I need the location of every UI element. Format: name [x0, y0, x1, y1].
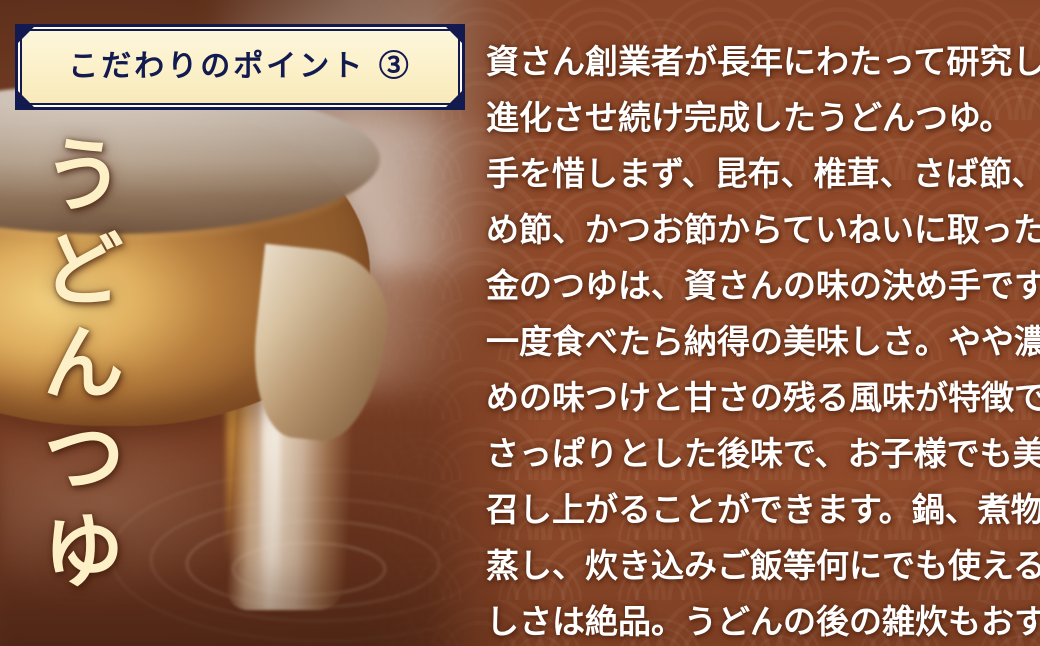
description-line: 召し上がることができます。鍋、煮物、茶碗 — [486, 482, 1026, 538]
vertical-product-title: うどんつゆ — [28, 132, 120, 602]
description-line: 蒸し、炊き込みご飯等何にでも使える美味 — [486, 538, 1026, 594]
description-line: 一度食べたら納得の美味しさ。やや濃い — [486, 314, 1026, 370]
description-text-block: 資さん創業者が長年にわたって研究し 進化させ続け完成したうどんつゆ。 手を惜しま… — [486, 34, 1026, 646]
description-line: しさは絶品。うどんの後の雑炊もおすすめ。 — [486, 594, 1026, 646]
description-line: 金のつゆは、資さんの味の決め手です。 — [486, 258, 1026, 314]
description-line: 資さん創業者が長年にわたって研究し — [486, 34, 1026, 90]
description-line: 進化させ続け完成したうどんつゆ。 — [486, 90, 1026, 146]
point-banner: こだわりのポイント ③ — [15, 24, 465, 110]
banner-inner-gap: こだわりのポイント ③ — [18, 27, 462, 107]
description-line: さっぱりとした後味で、お子様でも美味しく — [486, 426, 1026, 482]
banner-fill: こだわりのポイント ③ — [22, 31, 458, 103]
description-line: 手を惜しまず、昆布、椎茸、さば節、うる — [486, 146, 1026, 202]
banner-title-text: こだわりのポイント ③ — [68, 52, 411, 82]
banner-inner-line: こだわりのポイント ③ — [20, 29, 460, 105]
promo-banner-image: うどんつゆ こだわりのポイント ③ 資さん創業者が長年にわたって研究し 進化させ… — [0, 0, 1040, 646]
description-line: めの味つけと甘さの残る風味が特徴です。 — [486, 370, 1026, 426]
description-line: め節、かつお節からていねいに取った黄 — [486, 202, 1026, 258]
